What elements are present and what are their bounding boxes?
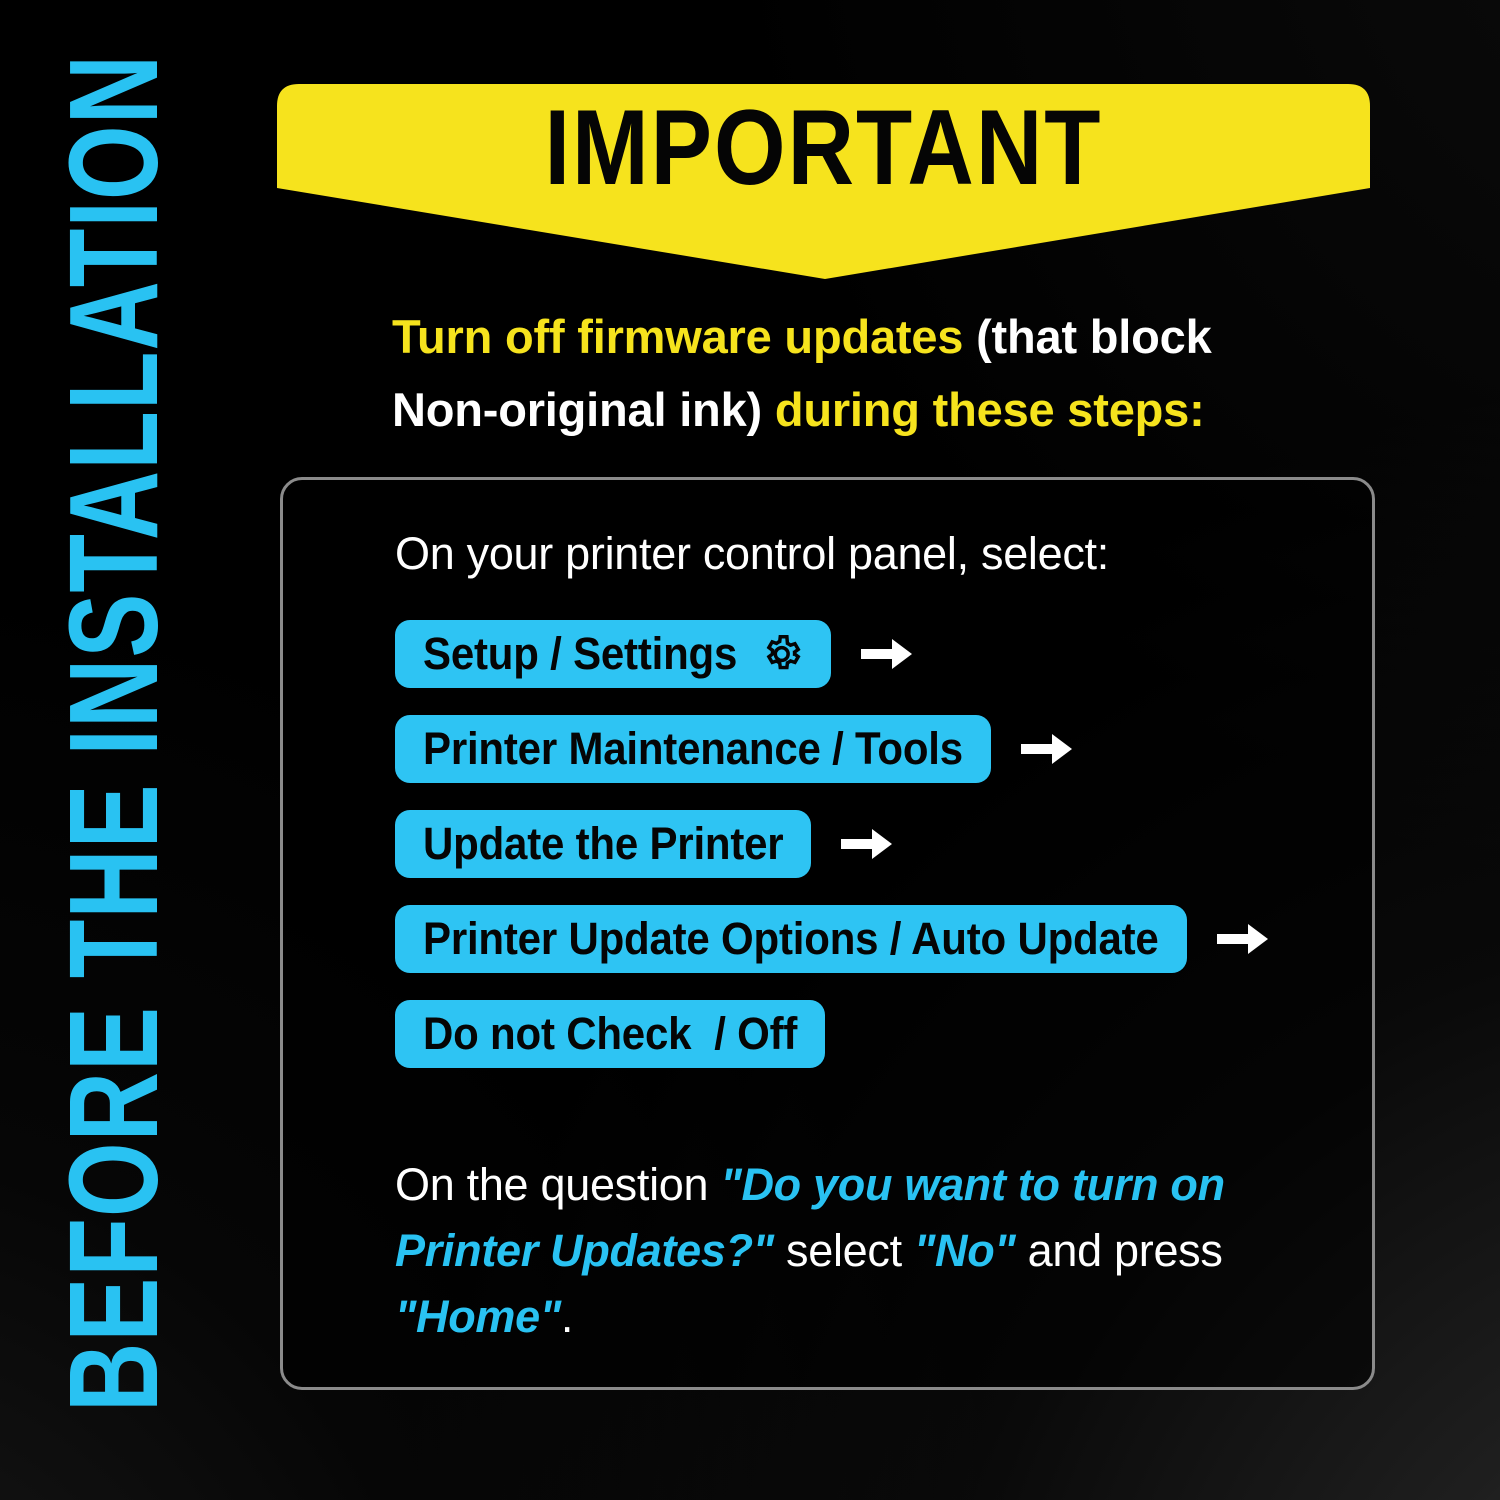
headline-part-1: Turn off firmware updates bbox=[392, 310, 976, 363]
chip-label: Do not Check / Off bbox=[423, 1008, 797, 1060]
closing-answer-home: "Home" bbox=[395, 1291, 561, 1342]
step-list: Setup / Settings Printer M bbox=[395, 620, 1345, 1095]
arrow-right-icon bbox=[859, 634, 915, 674]
chip-do-not-check-off[interactable]: Do not Check / Off bbox=[395, 1000, 825, 1068]
arrow-right-icon bbox=[1215, 919, 1271, 959]
chip-setup-settings[interactable]: Setup / Settings bbox=[395, 620, 831, 688]
panel-heading: On your printer control panel, select: bbox=[395, 528, 1109, 580]
chip-printer-maintenance-tools[interactable]: Printer Maintenance / Tools bbox=[395, 715, 991, 783]
chip-label: Setup / Settings bbox=[423, 628, 737, 680]
headline: Turn off firmware updates (that block No… bbox=[392, 300, 1222, 447]
closing-paragraph: On the question "Do you want to turn on … bbox=[395, 1152, 1295, 1350]
chip-printer-update-options-auto-update[interactable]: Printer Update Options / Auto Update bbox=[395, 905, 1187, 973]
vertical-banner-title: BEFORE THE INSTALLATION bbox=[0, 0, 230, 1500]
arrow-right-icon bbox=[839, 824, 895, 864]
important-label: IMPORTANT bbox=[277, 74, 1370, 222]
chip-update-the-printer[interactable]: Update the Printer bbox=[395, 810, 811, 878]
arrow-right-icon bbox=[1019, 729, 1075, 769]
step-row: Printer Update Options / Auto Update bbox=[395, 905, 1345, 973]
closing-text-4: . bbox=[561, 1291, 573, 1342]
step-row: Do not Check / Off bbox=[395, 1000, 1345, 1068]
gear-icon bbox=[759, 632, 803, 676]
step-row: Setup / Settings bbox=[395, 620, 1345, 688]
closing-text-1: On the question bbox=[395, 1159, 720, 1210]
chip-label: Printer Update Options / Auto Update bbox=[423, 913, 1159, 965]
important-banner: IMPORTANT bbox=[277, 84, 1370, 279]
instructions-panel: On your printer control panel, select: S… bbox=[280, 477, 1375, 1390]
chip-label: Printer Maintenance / Tools bbox=[423, 723, 963, 775]
chip-label: Update the Printer bbox=[423, 818, 783, 870]
poster-canvas: BEFORE THE INSTALLATION IMPORTANT Turn o… bbox=[0, 0, 1500, 1500]
headline-part-3: during these steps: bbox=[762, 383, 1205, 436]
closing-answer-no: "No" bbox=[914, 1225, 1015, 1276]
closing-text-3: and press bbox=[1015, 1225, 1222, 1276]
closing-text-2: select bbox=[774, 1225, 914, 1276]
vertical-title-text: BEFORE THE INSTALLATION bbox=[52, 54, 179, 1500]
step-row: Printer Maintenance / Tools bbox=[395, 715, 1345, 783]
step-row: Update the Printer bbox=[395, 810, 1345, 878]
